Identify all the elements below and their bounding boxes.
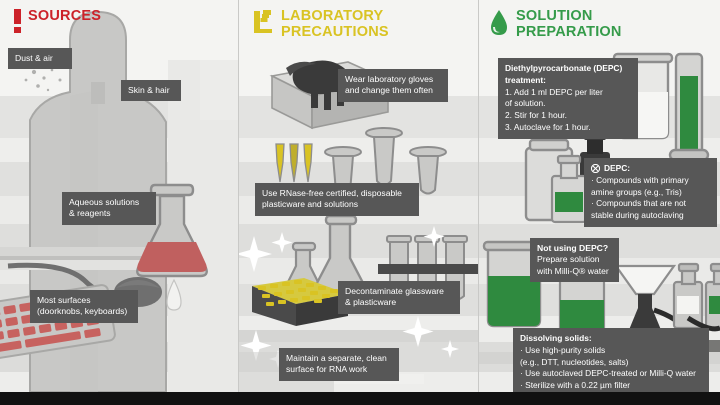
label-heading: Not using DEPC?: [537, 243, 612, 254]
sources-title: SOURCES: [28, 9, 101, 25]
label-text: Decontaminate glassware: [345, 286, 453, 297]
label-not-using-depc: Not using DEPC? Prepare solution with Mi…: [530, 238, 619, 282]
reagent-bottles-right-art: [674, 264, 720, 329]
lab-precautions-title-block: LABORATORY PRECAUTIONS: [281, 9, 389, 40]
solution-prep-title-block: SOLUTION PREPARATION: [516, 9, 622, 40]
label-text: Skin & hair: [128, 85, 174, 96]
label-text: & reagents: [69, 208, 149, 219]
lab-precautions-title-line2: PRECAUTIONS: [281, 25, 389, 41]
graduated-cylinder-art: [670, 54, 708, 160]
label-text: · Compounds that are not: [591, 198, 710, 210]
label-rnase-free: Use RNase-free certified, disposable pla…: [255, 183, 419, 216]
label-heading: DEPC:: [604, 163, 630, 175]
label-text: Maintain a separate, clean: [286, 353, 392, 364]
label-text: and change them often: [345, 85, 441, 96]
sources-section-header: SOURCES: [14, 9, 101, 33]
label-text: Dust & air: [15, 53, 65, 64]
label-text: · Use high-purity solids: [520, 345, 702, 357]
column-divider: [238, 0, 239, 392]
label-clean-surface: Maintain a separate, clean surface for R…: [279, 348, 399, 381]
label-text: · Use autoclaved DEPC-treated or Milli-Q…: [520, 368, 702, 380]
solution-prep-title-line1: SOLUTION: [516, 9, 622, 25]
droplet-icon: [489, 9, 509, 35]
label-text: amine groups (e.g., Tris): [591, 187, 710, 199]
label-text: 2. Stir for 1 hour.: [505, 110, 631, 122]
label-most-surfaces: Most surfaces (doorknobs, keyboards): [30, 290, 138, 323]
solution-prep-section-header: SOLUTION PREPARATION: [489, 9, 622, 40]
column-divider: [478, 0, 479, 392]
bottom-bar: [0, 392, 720, 405]
label-no-depc-warning: DEPC: · Compounds with primary amine gro…: [584, 158, 717, 227]
label-text: of solution.: [505, 98, 631, 110]
label-text: & plasticware: [345, 297, 453, 308]
label-text: (doorknobs, keyboards): [37, 306, 131, 317]
label-wear-gloves: Wear laboratory gloves and change them o…: [338, 69, 448, 102]
solution-prep-title-line2: PREPARATION: [516, 25, 622, 41]
label-text: stable during autoclaving: [591, 210, 710, 222]
label-aqueous-solutions: Aqueous solutions & reagents: [62, 192, 156, 225]
label-text: (e.g., DTT, nucleotides, salts): [520, 357, 702, 369]
label-text: · Compounds with primary: [591, 175, 710, 187]
pipette-tips-art: [276, 144, 312, 182]
label-heading: Dissolving solids:: [520, 333, 702, 345]
label-dust-air: Dust & air: [8, 48, 72, 69]
label-text: 3. Autoclave for 1 hour.: [505, 122, 631, 134]
label-text: Prepare solution: [537, 254, 612, 265]
label-text: surface for RNA work: [286, 364, 392, 375]
lab-precautions-title-line1: LABORATORY: [281, 9, 389, 25]
label-text: Wear laboratory gloves: [345, 74, 441, 85]
microscope-icon: [252, 9, 274, 33]
no-depc-icon: [591, 164, 600, 173]
exclamation-icon: [14, 9, 21, 33]
label-text: with Milli-Q® water: [537, 266, 612, 277]
label-skin-hair: Skin & hair: [121, 80, 181, 101]
label-dissolving-solids: Dissolving solids: · Use high-purity sol…: [513, 328, 709, 397]
label-heading: Diethylpyrocarbonate (DEPC): [505, 63, 631, 75]
label-text: 1. Add 1 ml DEPC per liter: [505, 87, 631, 99]
label-text: · Sterilize with a 0.22 µm filter: [520, 380, 702, 392]
infographic-canvas: SOURCES LABORATORY PRECAUTIONS SOLUTION …: [0, 0, 720, 405]
label-depc-treatment: Diethylpyrocarbonate (DEPC) treatment: 1…: [498, 58, 638, 139]
label-text: Use RNase-free certified, disposable: [262, 188, 412, 199]
label-text: plasticware and solutions: [262, 199, 412, 210]
label-text: Aqueous solutions: [69, 197, 149, 208]
lab-precautions-section-header: LABORATORY PRECAUTIONS: [252, 9, 389, 40]
label-heading: treatment:: [505, 75, 631, 87]
label-text: Most surfaces: [37, 295, 131, 306]
label-decontaminate: Decontaminate glassware & plasticware: [338, 281, 460, 314]
